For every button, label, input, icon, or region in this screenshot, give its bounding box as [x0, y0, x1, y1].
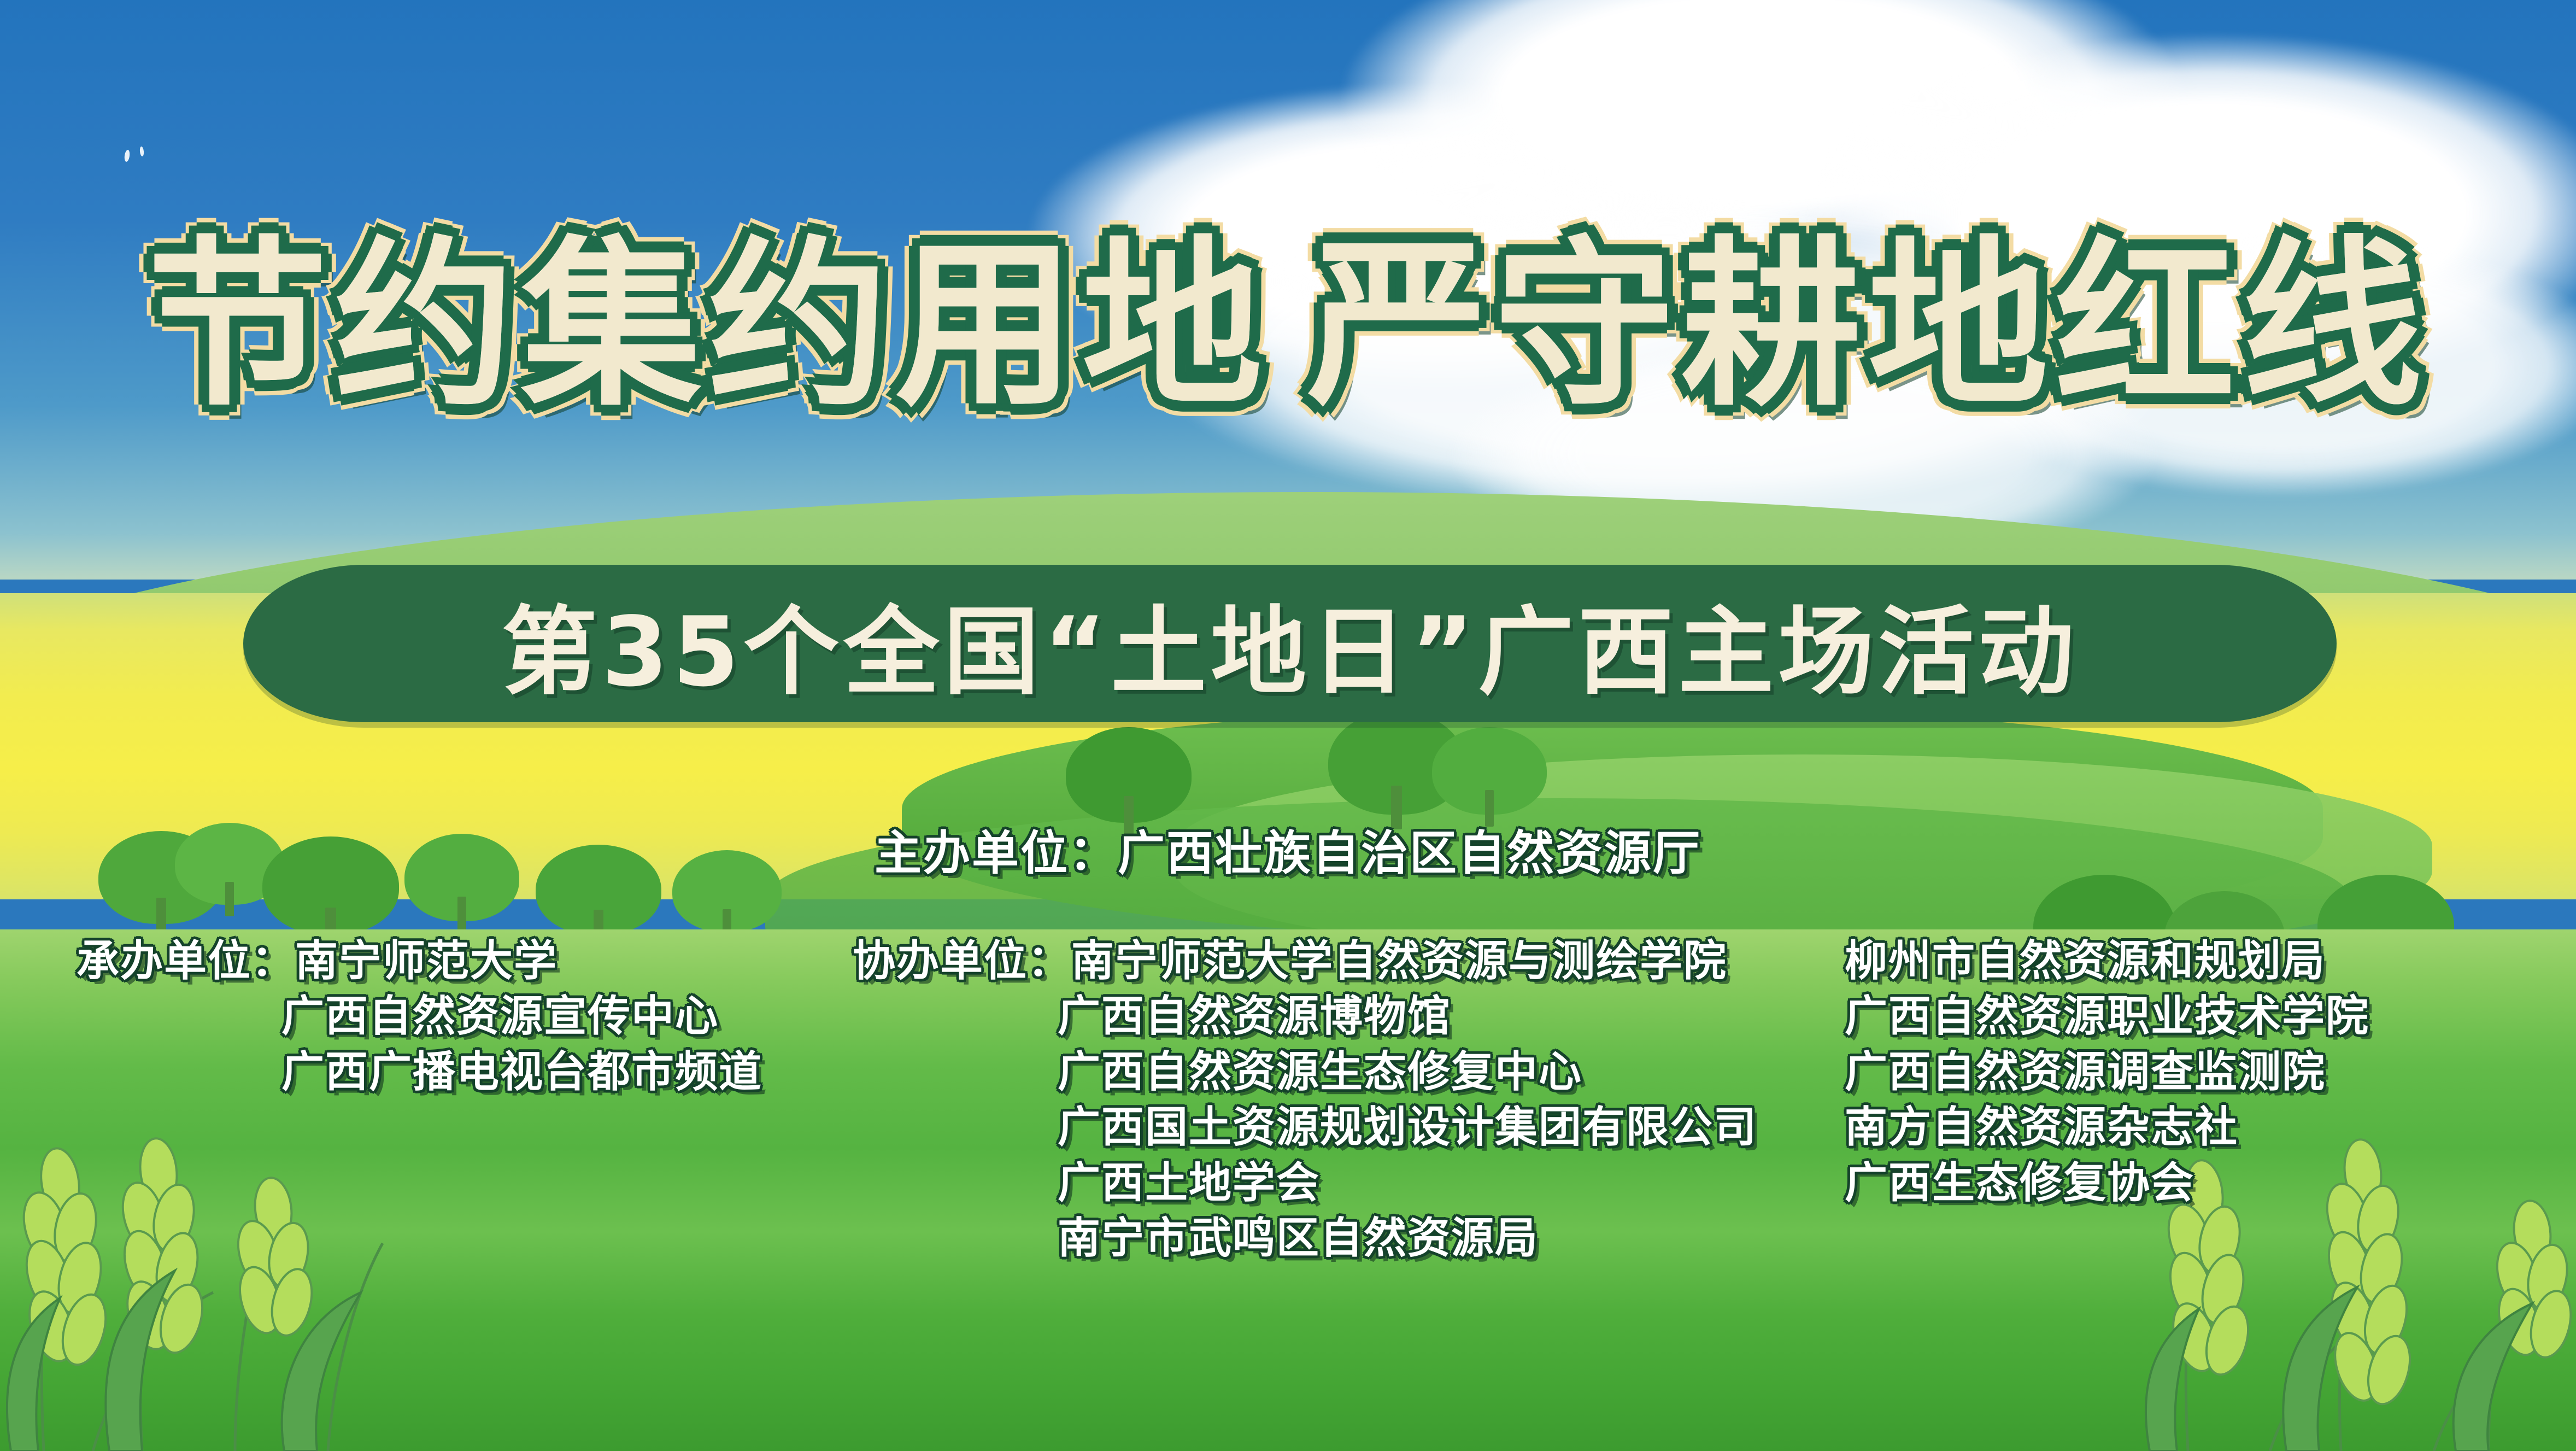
tree-icon	[1066, 727, 1192, 823]
organizer-item: 广西生态修复协会	[1845, 1156, 2369, 1211]
organizer-first-item: 南宁师范大学	[295, 937, 558, 986]
organizer-item: 广西广播电视台都市频道	[77, 1045, 762, 1100]
poster-canvas: 节约集约用地严守耕地红线 第35个全国“土地日”广西主场活动 主办单位：广西壮族…	[0, 0, 2576, 1451]
organizer-item: 南宁市武鸣区自然资源局	[853, 1211, 1757, 1266]
organizer-item: 广西自然资源职业技术学院	[1845, 989, 2369, 1044]
organizer-item: 广西自然资源宣传中心	[77, 989, 762, 1044]
organizers-column-left: 承办单位：南宁师范大学 广西自然资源宣传中心 广西广播电视台都市频道	[77, 934, 762, 1100]
organizer-item: 广西自然资源调查监测院	[1845, 1045, 2369, 1100]
title-line-left: 节约集约用地	[148, 220, 1269, 430]
tree-icon	[1432, 727, 1547, 815]
organizers-column-right: 柳州市自然资源和规划局 广西自然资源职业技术学院 广西自然资源调查监测院 南方自…	[1845, 934, 2369, 1211]
organizer-item: 广西自然资源博物馆	[853, 989, 1757, 1044]
subtitle-banner: 第35个全国“土地日”广西主场活动	[243, 565, 2337, 722]
organizer-label-line: 承办单位：南宁师范大学	[77, 934, 762, 989]
organizer-label: 协办单位：	[853, 937, 1071, 986]
organizer-item: 南方自然资源杂志社	[1845, 1100, 2369, 1155]
host-organization-line: 主办单位：广西壮族自治区自然资源厅	[0, 815, 2576, 883]
organizer-item: 广西土地学会	[853, 1156, 1757, 1211]
subtitle-text: 第35个全国“土地日”广西主场活动	[243, 565, 2337, 722]
poster-main-title: 节约集约用地严守耕地红线	[0, 235, 2576, 416]
organizers-column-middle: 协办单位：南宁师范大学自然资源与测绘学院 广西自然资源博物馆 广西自然资源生态修…	[853, 934, 1757, 1266]
organizer-first-item: 南宁师范大学自然资源与测绘学院	[1071, 937, 1727, 986]
organizer-item: 柳州市自然资源和规划局	[1845, 934, 2369, 989]
organizer-label-line: 协办单位：南宁师范大学自然资源与测绘学院	[853, 934, 1757, 989]
organizer-item: 广西国土资源规划设计集团有限公司	[853, 1100, 1757, 1155]
organizer-label: 承办单位：	[77, 937, 295, 986]
title-line-right: 严守耕地红线	[1307, 220, 2429, 430]
organizer-item: 广西自然资源生态修复中心	[853, 1045, 1757, 1100]
